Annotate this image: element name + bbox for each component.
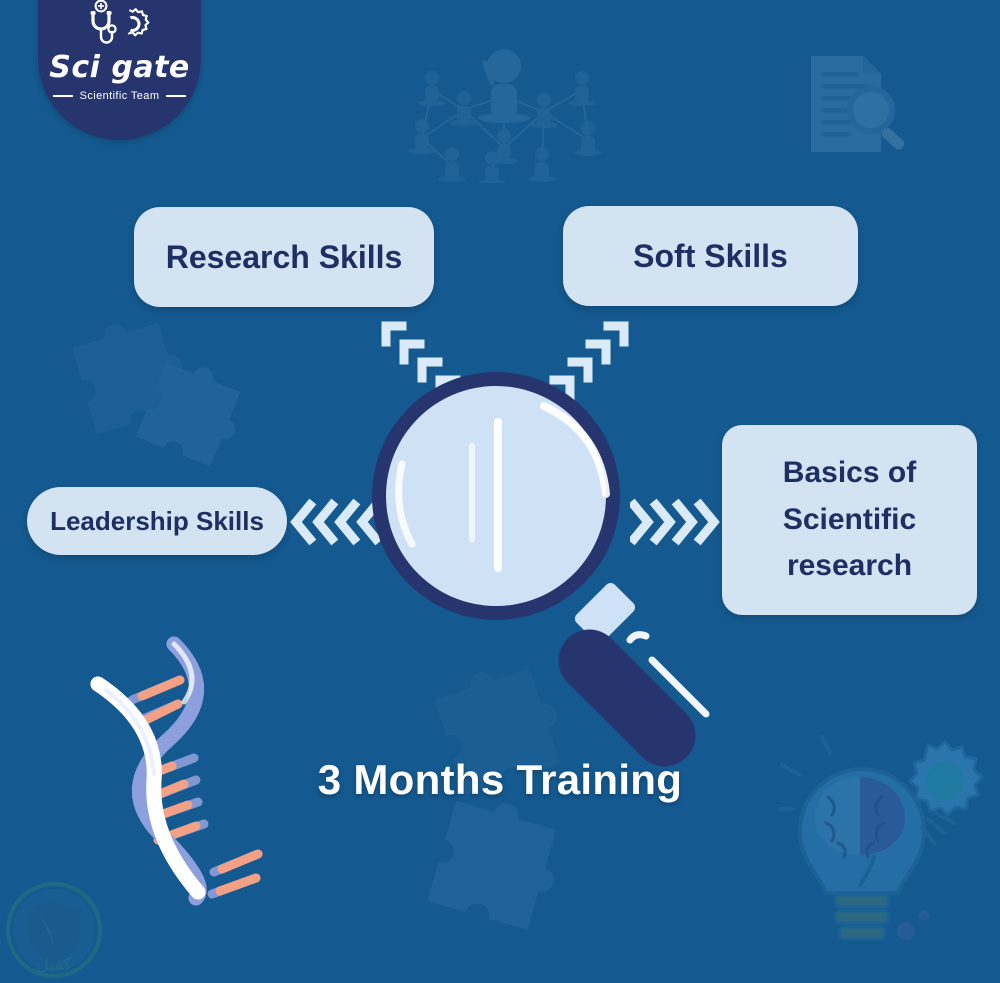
puzzle-pieces-icon <box>52 298 262 488</box>
logo-rule-right <box>166 95 186 97</box>
page-title: 3 Months Training <box>0 756 1000 804</box>
skill-box-soft-skills[interactable]: Soft Skills <box>563 206 858 306</box>
skill-label-leadership: Leadership Skills <box>50 506 264 537</box>
skill-label-basics-line3: research <box>787 543 912 590</box>
skill-label-soft: Soft Skills <box>633 238 788 275</box>
logo-wordmark: Sci gate <box>38 50 201 85</box>
logo-badge: Sci gate Scientific Team <box>38 0 201 140</box>
skill-label-basics-line1: Basics of <box>783 450 916 497</box>
chevron-left-arrows <box>288 493 380 551</box>
stethoscope-gear-icon <box>84 0 156 48</box>
logo-tagline-row: Scientific Team <box>38 90 201 102</box>
people-network-illustration <box>392 38 617 183</box>
logo-tagline: Scientific Team <box>80 90 160 102</box>
skill-box-leadership-skills[interactable]: Leadership Skills <box>27 487 287 555</box>
logo-rule-left <box>53 95 73 97</box>
document-magnifier-icon <box>795 48 925 160</box>
skill-box-research-skills[interactable]: Research Skills <box>134 207 434 307</box>
skill-label-research: Research Skills <box>166 239 403 276</box>
infographic-poster: كفيل Sci gate Scientific Team Research S… <box>0 0 1000 983</box>
magnifying-glass-icon <box>368 368 778 778</box>
skill-label-basics-line2: Scientific <box>783 497 916 544</box>
svg-text:كفيل: كفيل <box>37 955 73 975</box>
kafeel-shield-watermark: كفيل <box>0 878 126 983</box>
